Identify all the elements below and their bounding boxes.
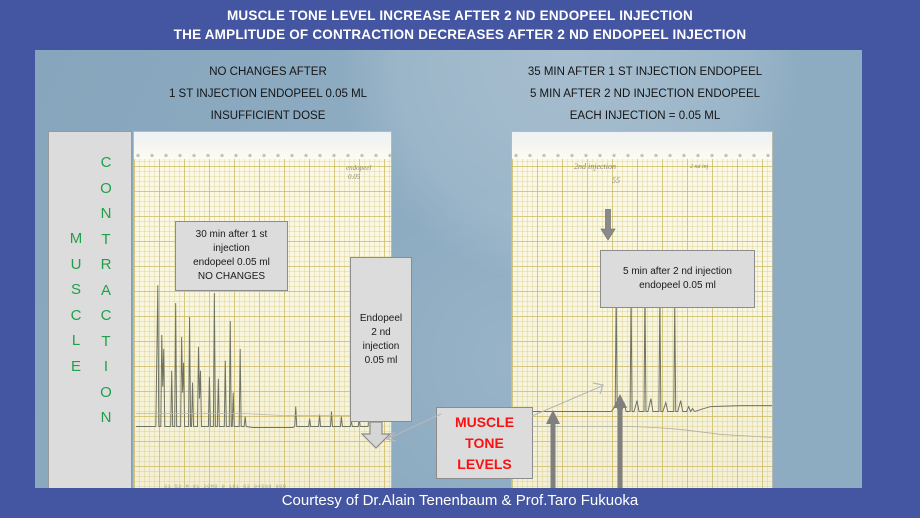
subheading-left-line-2: 1 ST INJECTION ENDOPEEL 0.05 ML bbox=[123, 83, 413, 105]
axis-letter: I bbox=[94, 354, 118, 380]
axis-label-box: M U S C L E C O N T R A C T I O N bbox=[48, 131, 132, 488]
emg-chart-right: 2nd injection 55 2 nd inj 0033/00 bbox=[511, 131, 773, 488]
axis-letter: T bbox=[94, 329, 118, 355]
axis-label-muscle: M U S C L E bbox=[64, 226, 88, 379]
axis-letter: O bbox=[94, 176, 118, 202]
axis-letter: U bbox=[64, 252, 88, 278]
callout-line-1: 5 min after 2 nd injection bbox=[623, 265, 732, 279]
axis-letter: R bbox=[94, 252, 118, 278]
subheading-right-line-1: 35 MIN AFTER 1 ST INJECTION ENDOPEEL bbox=[480, 61, 810, 83]
axis-letter: T bbox=[94, 227, 118, 253]
axis-letter: S bbox=[64, 277, 88, 303]
muscle-tone-line-1: MUSCLE bbox=[455, 412, 514, 433]
muscle-tone-levels-box[interactable]: MUSCLE TONE LEVELS bbox=[436, 407, 533, 479]
subheading-left-line-1: NO CHANGES AFTER bbox=[123, 61, 413, 83]
callout-right-chart[interactable]: 5 min after 2 nd injection endopeel 0.05… bbox=[600, 250, 755, 308]
axis-letter: C bbox=[94, 303, 118, 329]
callout-line-3: endopeel 0.05 ml bbox=[193, 256, 270, 270]
footer-credit: Courtesy of Dr.Alain Tenenbaum & Prof.Ta… bbox=[0, 492, 920, 509]
callout-line-3: injection bbox=[363, 340, 400, 354]
callout-line-1: Endopeel bbox=[360, 312, 402, 326]
content-panel: NO CHANGES AFTER 1 ST INJECTION ENDOPEEL… bbox=[35, 50, 862, 488]
callout-line-4: NO CHANGES bbox=[198, 270, 265, 284]
callout-line-1: 30 min after 1 st bbox=[196, 228, 268, 242]
subheading-right-line-2: 5 MIN AFTER 2 ND INJECTION ENDOPEEL bbox=[480, 83, 810, 105]
axis-label-contraction: C O N T R A C T I O N bbox=[94, 150, 118, 431]
subheading-right: 35 MIN AFTER 1 ST INJECTION ENDOPEEL 5 M… bbox=[480, 61, 810, 127]
axis-letter: C bbox=[94, 150, 118, 176]
callout-line-2: 2 nd bbox=[371, 326, 390, 340]
emg-trace-right bbox=[512, 132, 772, 488]
title-line-1: MUSCLE TONE LEVEL INCREASE AFTER 2 ND EN… bbox=[0, 6, 920, 25]
axis-letter: E bbox=[64, 354, 88, 380]
callout-line-4: 0.05 ml bbox=[365, 354, 398, 368]
axis-letter: A bbox=[94, 278, 118, 304]
callout-line-2: injection bbox=[213, 242, 250, 256]
axis-letter: N bbox=[94, 201, 118, 227]
slide-canvas: MUSCLE TONE LEVEL INCREASE AFTER 2 ND EN… bbox=[0, 0, 920, 518]
muscle-tone-line-2: TONE bbox=[465, 433, 504, 454]
axis-letter: M bbox=[64, 226, 88, 252]
axis-letter: O bbox=[94, 380, 118, 406]
axis-letter: N bbox=[94, 405, 118, 431]
callout-first-injection[interactable]: 30 min after 1 st injection endopeel 0.0… bbox=[175, 221, 288, 291]
subheading-right-line-3: EACH INJECTION = 0.05 ML bbox=[480, 105, 810, 127]
axis-letter: C bbox=[64, 303, 88, 329]
title-line-2: THE AMPLITUDE OF CONTRACTION DECREASES A… bbox=[0, 25, 920, 44]
callout-line-2: endopeel 0.05 ml bbox=[639, 279, 716, 293]
subheading-left: NO CHANGES AFTER 1 ST INJECTION ENDOPEEL… bbox=[123, 61, 413, 127]
axis-letter: L bbox=[64, 328, 88, 354]
subheading-left-line-3: INSUFFICIENT DOSE bbox=[123, 105, 413, 127]
muscle-tone-line-3: LEVELS bbox=[457, 454, 511, 475]
callout-second-injection[interactable]: Endopeel 2 nd injection 0.05 ml bbox=[350, 257, 412, 422]
slide-title: MUSCLE TONE LEVEL INCREASE AFTER 2 ND EN… bbox=[0, 6, 920, 44]
